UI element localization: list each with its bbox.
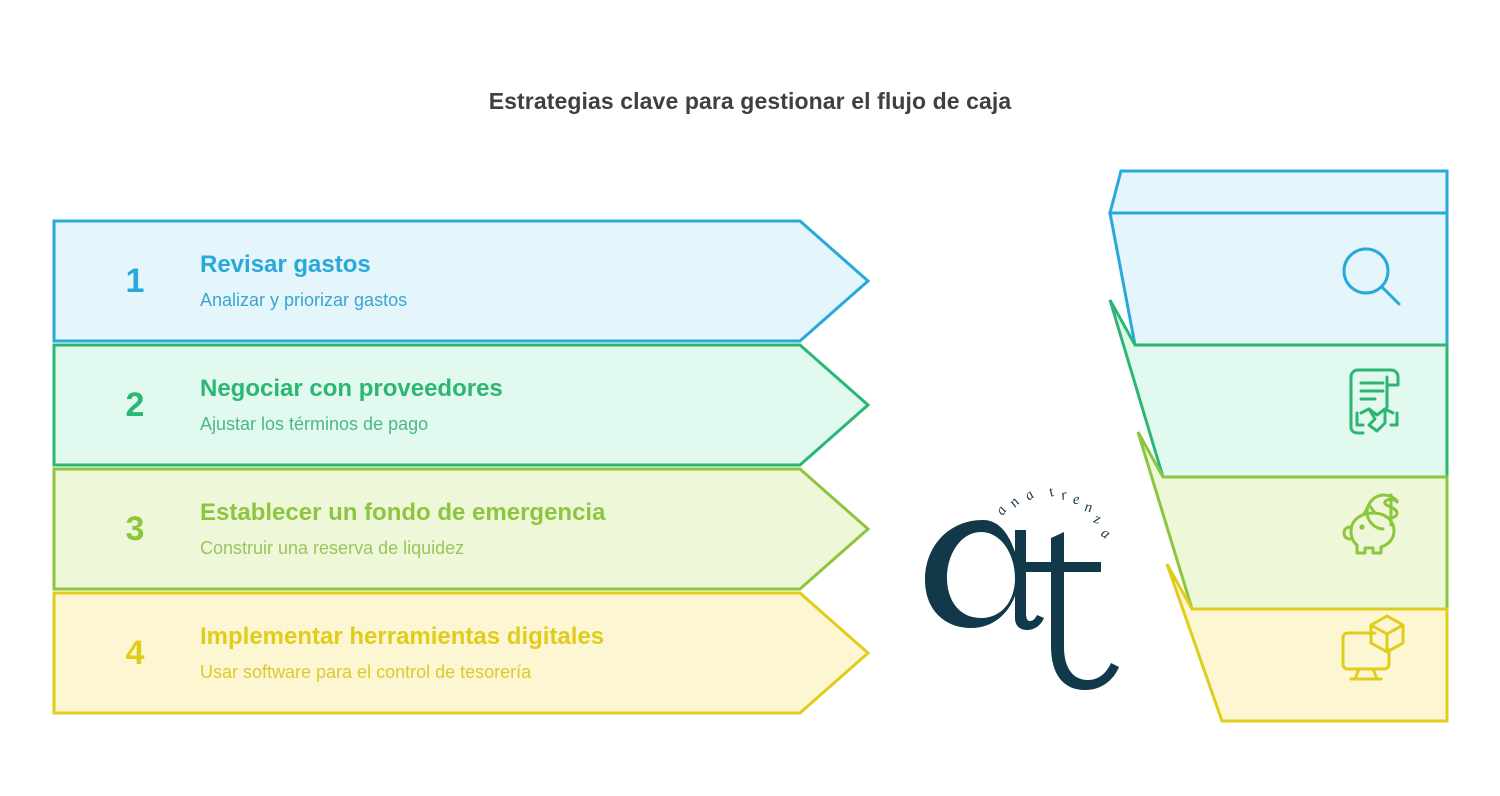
step-subtitle-2: Ajustar los términos de pago (200, 415, 503, 433)
step-number-1: 1 (110, 219, 160, 343)
svg-text:a: a (993, 503, 1011, 518)
step-heading-2: Negociar con proveedores (200, 377, 503, 401)
step-text-block-3: Establecer un fondo de emergencia Constr… (200, 467, 605, 591)
step-heading-3: Establecer un fondo de emergencia (200, 501, 605, 525)
step-heading-1: Revisar gastos (200, 253, 407, 277)
strategy-arrow-stack: 1 Revisar gastos Analizar y priorizar ga… (52, 219, 872, 721)
funnel-cap-band (1110, 171, 1447, 213)
step-text-block-1: Revisar gastos Analizar y priorizar gast… (200, 219, 407, 343)
step-number-4: 4 (110, 591, 160, 715)
step-text-block-4: Implementar herramientas digitales Usar … (200, 591, 604, 715)
svg-text:r: r (1060, 487, 1069, 504)
step-text-block-2: Negociar con proveedores Ajustar los tér… (200, 343, 503, 467)
monitor-cube-icon (1335, 612, 1409, 686)
strategy-arrow-row-2[interactable]: 2 Negociar con proveedores Ajustar los t… (52, 343, 872, 467)
step-subtitle-3: Construir una reserva de liquidez (200, 539, 605, 557)
strategy-arrow-row-3[interactable]: 3 Establecer un fondo de emergencia Cons… (52, 467, 872, 591)
piggy-bank-icon (1339, 487, 1413, 561)
magnifier-icon (1336, 242, 1410, 316)
step-number-3: 3 (110, 467, 160, 591)
strategy-arrow-row-4[interactable]: 4 Implementar herramientas digitales Usa… (52, 591, 872, 715)
step-subtitle-1: Analizar y priorizar gastos (200, 291, 407, 309)
contract-handshake-icon (1339, 365, 1413, 439)
step-subtitle-4: Usar software para el control de tesorer… (200, 663, 604, 681)
strategy-arrow-row-1[interactable]: 1 Revisar gastos Analizar y priorizar ga… (52, 219, 872, 343)
funnel-diagram (1085, 160, 1460, 730)
page-title: Estrategias clave para gestionar el fluj… (0, 88, 1500, 115)
svg-text:t: t (1047, 484, 1058, 501)
step-number-2: 2 (110, 343, 160, 467)
svg-text:e: e (1073, 492, 1081, 508)
step-heading-4: Implementar herramientas digitales (200, 625, 604, 649)
svg-text:n: n (1006, 494, 1023, 510)
svg-text:a: a (1022, 487, 1038, 504)
arrow-shape-1 (52, 219, 872, 343)
